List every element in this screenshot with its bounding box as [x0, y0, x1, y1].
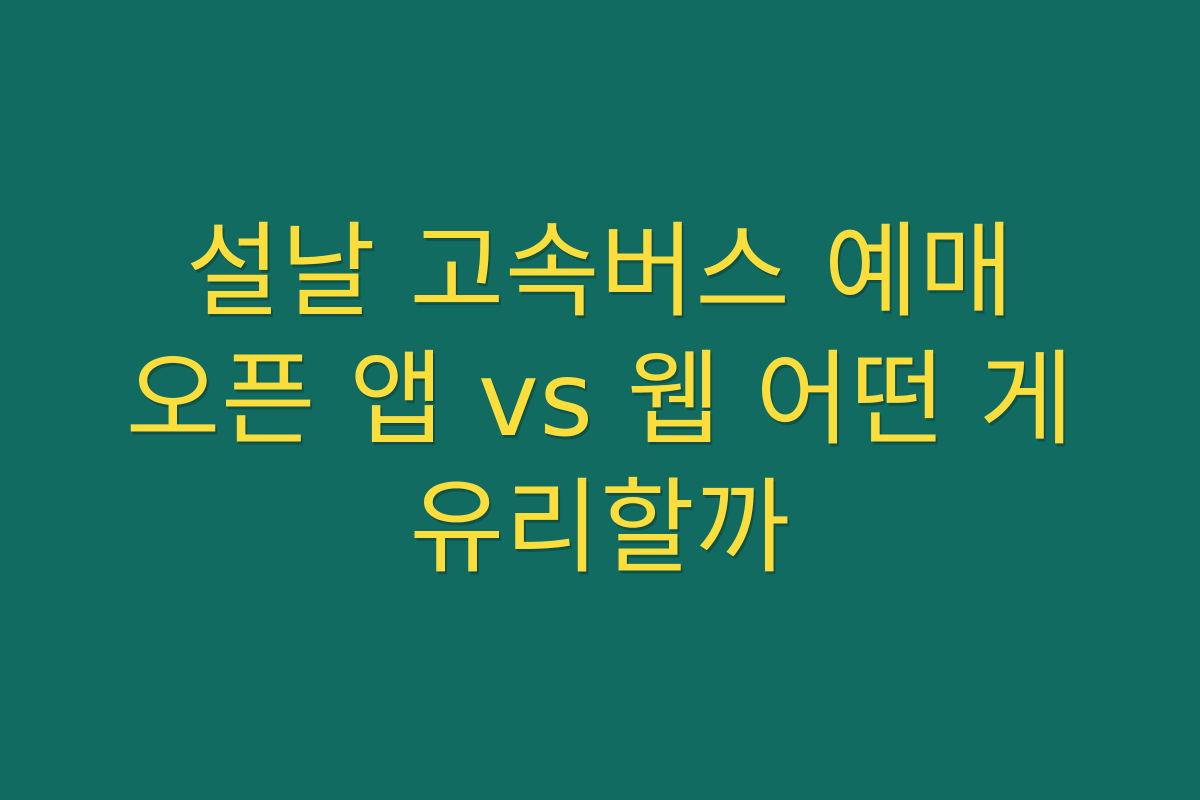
- thumbnail-canvas: 설날 고속버스 예매 오픈 앱 vs 웹 어떤 게 유리할까: [0, 0, 1200, 800]
- headline-title: 설날 고속버스 예매 오픈 앱 vs 웹 어떤 게 유리할까: [120, 208, 1080, 592]
- headline-block: 설날 고속버스 예매 오픈 앱 vs 웹 어떤 게 유리할까: [110, 208, 1090, 592]
